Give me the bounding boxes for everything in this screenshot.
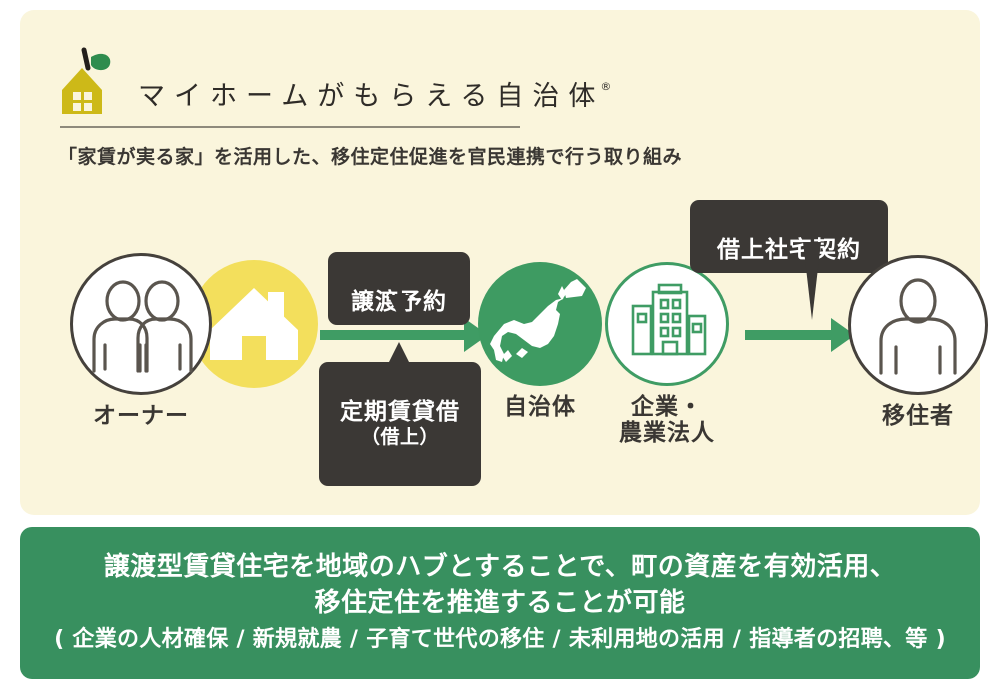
callout-fixed-term-lease-sub: （借上） <box>335 426 465 449</box>
logo-wordmark: マイホームがもらえる自治体 ® <box>138 83 611 110</box>
callout-fixed-term-lease: 定期賃貸借 （借上） <box>319 362 481 486</box>
header-divider <box>60 126 520 128</box>
registered-trademark-icon: ® <box>600 81 611 92</box>
banner-line-2: 移住定住を推進することが可能 <box>314 586 685 622</box>
subtitle: 「家賃が実る家」を活用した、移住定住促進を官民連携で行う取り組み <box>58 142 682 169</box>
summary-banner: 譲渡型賃貸住宅を地域のハブとすることで、町の資産を有効活用、 移住定住を推進する… <box>20 527 980 679</box>
diagram-node-company-label: 企業・ 農業法人 <box>557 394 777 447</box>
flow-diagram: オーナー 譲渡予約 定期賃貸借 （借上） <box>40 190 1000 490</box>
two-people-icon <box>94 282 191 371</box>
diagram-node-owner-label: オーナー <box>31 403 251 429</box>
callout-fixed-term-lease-pointer <box>388 342 410 364</box>
house-icon <box>210 288 298 362</box>
municipality-circle <box>478 262 602 386</box>
company-circle <box>605 262 729 386</box>
logo: マイホームがもらえる自治体 ® <box>58 46 611 116</box>
office-building-icon <box>633 285 705 354</box>
banner-line-1: 譲渡型賃貸住宅を地域のハブとすることで、町の資産を有効活用、 <box>104 550 896 586</box>
diagram-node-migrant: 移住者 <box>848 255 988 395</box>
migrant-circle <box>848 255 988 395</box>
banner-line-3: ( 企業の人材確保 / 新規就農 / 子育て世代の移住 / 未利用地の活用 / … <box>54 623 946 656</box>
japan-map-icon <box>490 279 586 362</box>
infographic-page: マイホームがもらえる自治体 ® 「家賃が実る家」を活用した、移住定住促進を官民連… <box>0 0 1000 694</box>
callout-transfer-reservation-pointer <box>388 295 410 317</box>
diagram-node-company: 企業・ 農業法人 <box>605 262 729 386</box>
diagram-node-migrant-label: 移住者 <box>808 403 1000 429</box>
person-icon <box>881 280 955 373</box>
owner-circle <box>70 253 212 395</box>
arrow-company-to-migrant <box>745 318 855 352</box>
content-panel: マイホームがもらえる自治体 ® 「家賃が実る家」を活用した、移住定住促進を官民連… <box>20 10 980 515</box>
callout-company-housing-contract-pointer <box>803 242 821 320</box>
diagram-node-municipality: 自治体 <box>478 262 602 386</box>
house-with-leaf-logo-icon <box>58 46 116 116</box>
logo-brand-name: マイホームがもらえる自治体 <box>138 83 604 110</box>
diagram-node-owner: オーナー <box>70 253 212 395</box>
callout-company-housing-contract-text: 借上社宅契約 <box>717 237 861 263</box>
